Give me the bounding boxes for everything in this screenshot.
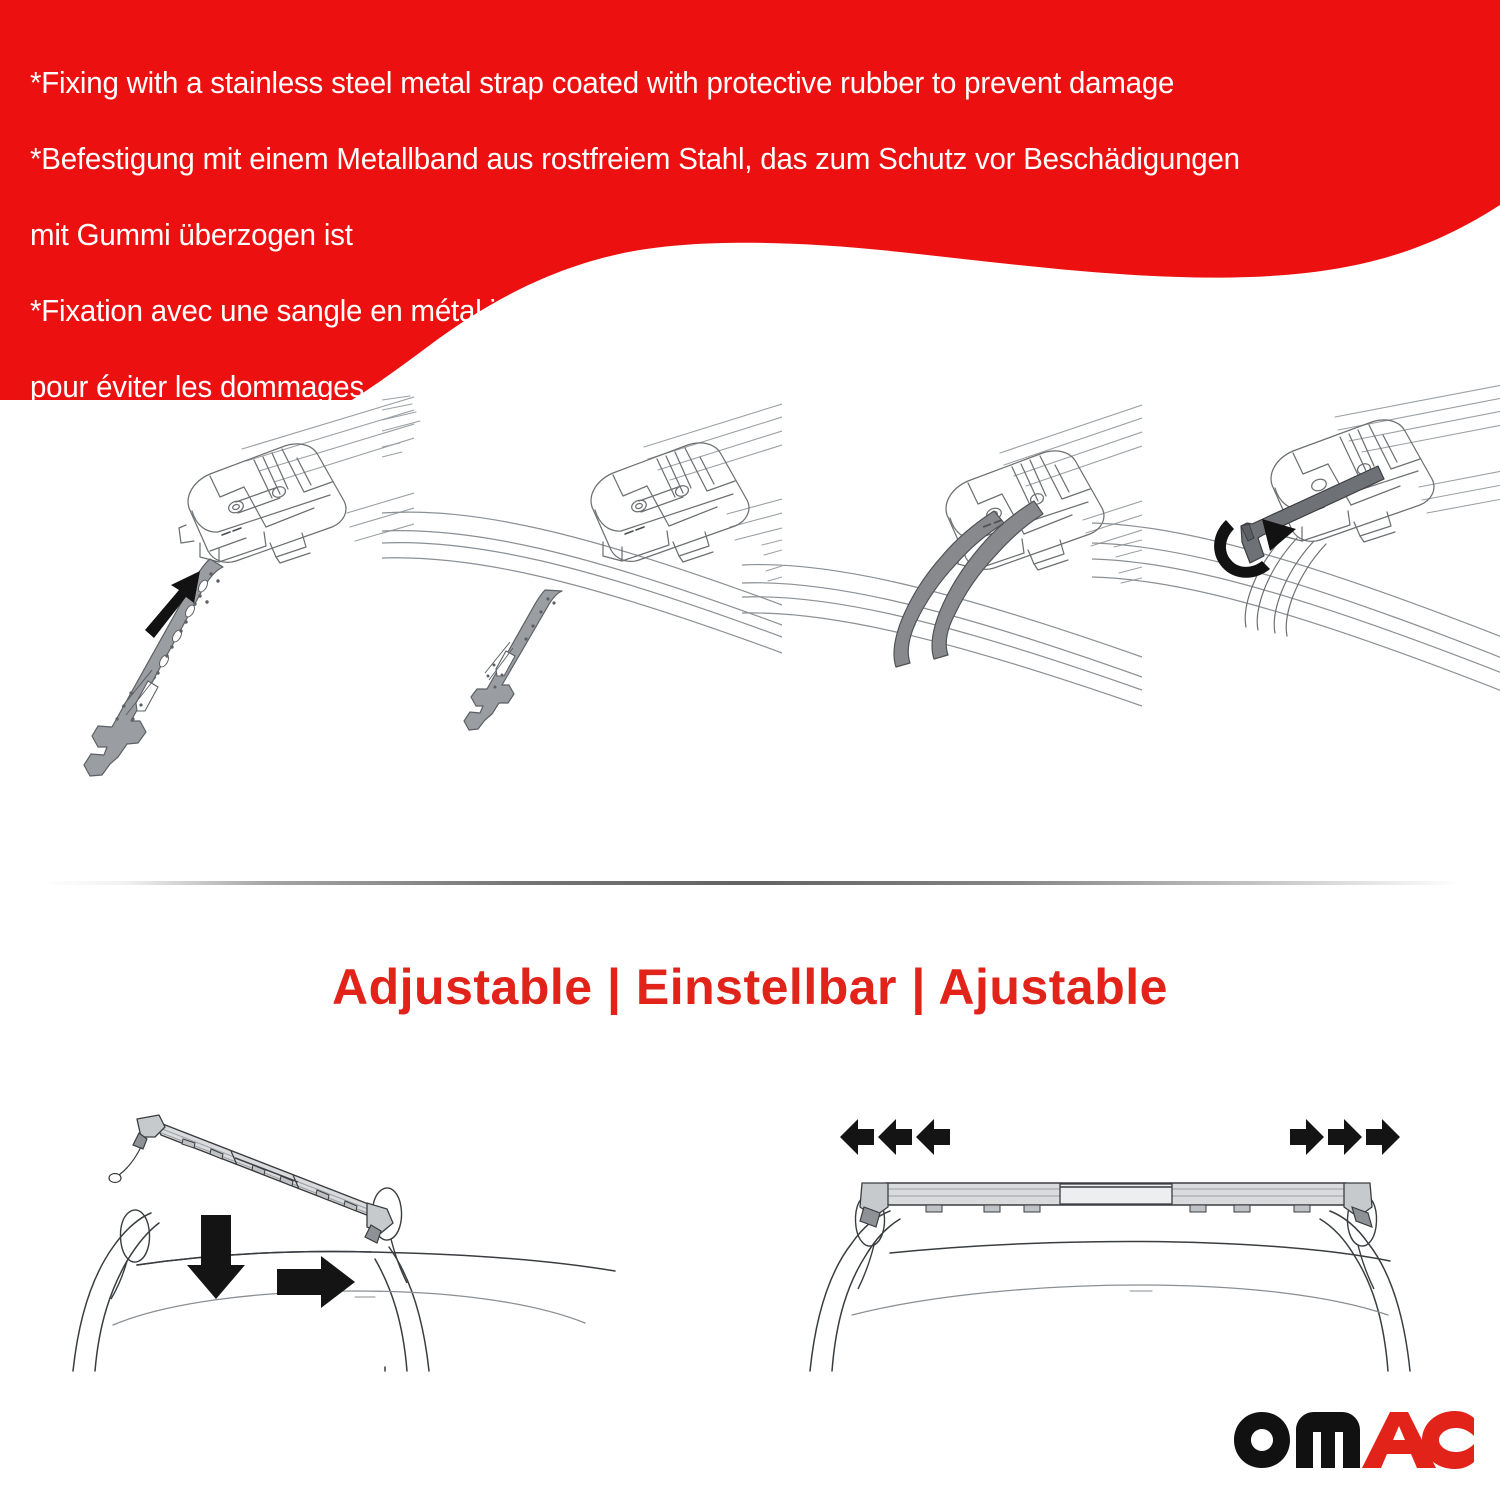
step-4-tighten-bolt: [1092, 375, 1500, 845]
metal-strap: [464, 590, 562, 730]
adjustment-diagrams-row: [0, 1075, 1500, 1375]
step-3-strap-wrapped: [742, 375, 1142, 845]
roof-rail: [382, 512, 782, 653]
mounting-illustration: [55, 1075, 775, 1375]
omac-logo-mark: [1232, 1404, 1476, 1476]
triple-left-arrows-icon: [840, 1119, 950, 1155]
crossbar-assembly: [109, 1115, 393, 1243]
rack-foot-body: [591, 443, 749, 562]
step-3-illustration: [742, 375, 1142, 845]
header-line-de-2: mit Gummi überzogen ist: [30, 216, 1420, 254]
logo-letter-m: [1296, 1412, 1360, 1468]
infographic-page: *Fixing with a stainless steel metal str…: [0, 0, 1500, 1500]
logo-letter-o: [1234, 1412, 1290, 1468]
step-2-foot-on-rail: [382, 375, 782, 845]
omac-logo: [1232, 1404, 1476, 1476]
triple-right-arrows-icon: [1290, 1119, 1400, 1155]
right-arrow-icon: [277, 1256, 355, 1308]
adjustable-heading: Adjustable | Einstellbar | Ajustable: [0, 958, 1500, 1016]
step-1-illustration: [14, 375, 414, 845]
header-line-en: *Fixing with a stainless steel metal str…: [30, 64, 1420, 102]
car-roof-outline: [810, 1211, 1410, 1371]
down-arrow-icon: [187, 1215, 245, 1299]
wrapped-straps: [894, 501, 1043, 667]
step-4-illustration: [1092, 375, 1500, 845]
adjust-panel-width: [790, 1075, 1470, 1375]
allen-key-icon: [1241, 466, 1384, 563]
step-2-illustration: [382, 375, 782, 845]
roof-rail: [1092, 523, 1500, 691]
width-adjust-illustration: [790, 1075, 1470, 1375]
header-line-fr-1: *Fixation avec une sangle en métal inoxy…: [30, 292, 1420, 330]
car-roof-outline: [73, 1213, 615, 1371]
header-line-de-1: *Befestigung mit einem Metallband aus ro…: [30, 140, 1420, 178]
section-divider: [40, 881, 1460, 885]
adjust-panel-mounting: [55, 1075, 775, 1375]
crossbar-assembly: [860, 1183, 1372, 1227]
rack-foot-body: [179, 444, 346, 563]
metal-strap: [84, 559, 223, 776]
header-banner: *Fixing with a stainless steel metal str…: [0, 0, 1500, 400]
step-1-insert-strap: [14, 375, 414, 845]
installation-steps-row: [0, 375, 1500, 845]
